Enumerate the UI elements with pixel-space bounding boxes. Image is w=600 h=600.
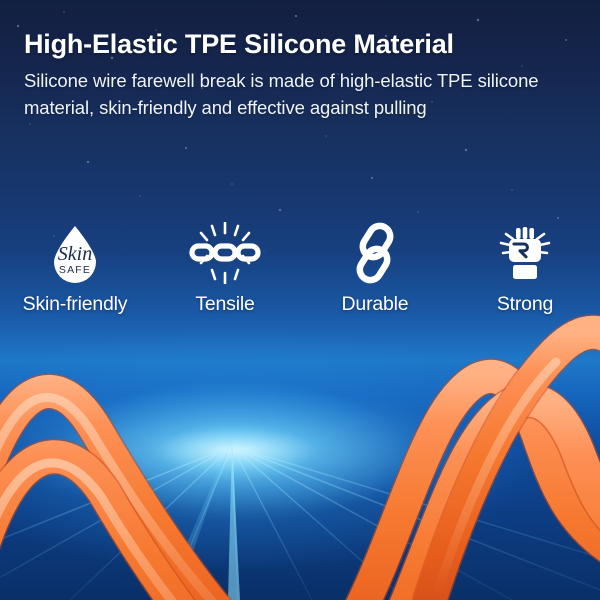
feature-durable: Durable xyxy=(300,222,450,316)
feature-label-tensile: Tensile xyxy=(195,293,254,316)
badge-sub-text: SAFE xyxy=(59,264,91,276)
product-feature-banner: High-Elastic TPE Silicone Material Silic… xyxy=(0,0,600,600)
text-block: High-Elastic TPE Silicone Material Silic… xyxy=(24,30,582,121)
page-title: High-Elastic TPE Silicone Material xyxy=(24,30,582,59)
feature-skin-friendly: Skin SAFE Skin-friendly xyxy=(0,222,150,316)
page-subtitle: Silicone wire farewell break is made of … xyxy=(24,68,582,121)
badge-script-text: Skin xyxy=(58,243,92,265)
interlocking-links-icon xyxy=(347,222,403,284)
feature-label-strong: Strong xyxy=(497,293,553,316)
chain-burst-icon xyxy=(187,222,263,284)
feature-label-skin-friendly: Skin-friendly xyxy=(23,293,128,316)
raised-fist-icon xyxy=(494,222,556,284)
skin-safe-droplet-icon: Skin SAFE xyxy=(44,222,106,284)
feature-strong: Strong xyxy=(450,222,600,316)
feature-label-durable: Durable xyxy=(342,293,409,316)
feature-tensile: Tensile xyxy=(150,222,300,316)
feature-row: Skin SAFE Skin-friendly xyxy=(0,222,600,316)
